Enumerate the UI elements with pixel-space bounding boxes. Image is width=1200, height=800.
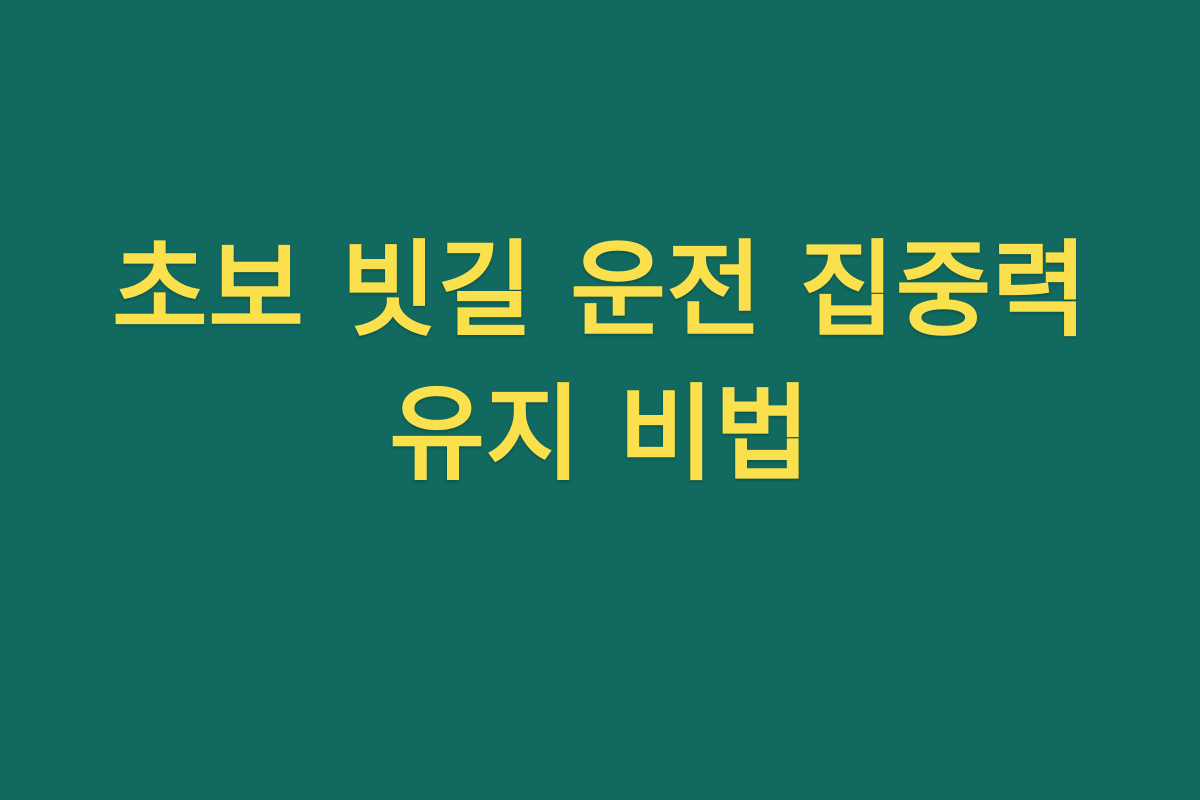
headline-block: 초보 빗길 운전 집중력 유지 비법 (100, 219, 1100, 506)
headline-line-1: 초보 빗길 운전 집중력 (100, 219, 1100, 363)
title-card-canvas: 초보 빗길 운전 집중력 유지 비법 (0, 0, 1200, 800)
headline-line-2: 유지 비법 (100, 363, 1100, 507)
